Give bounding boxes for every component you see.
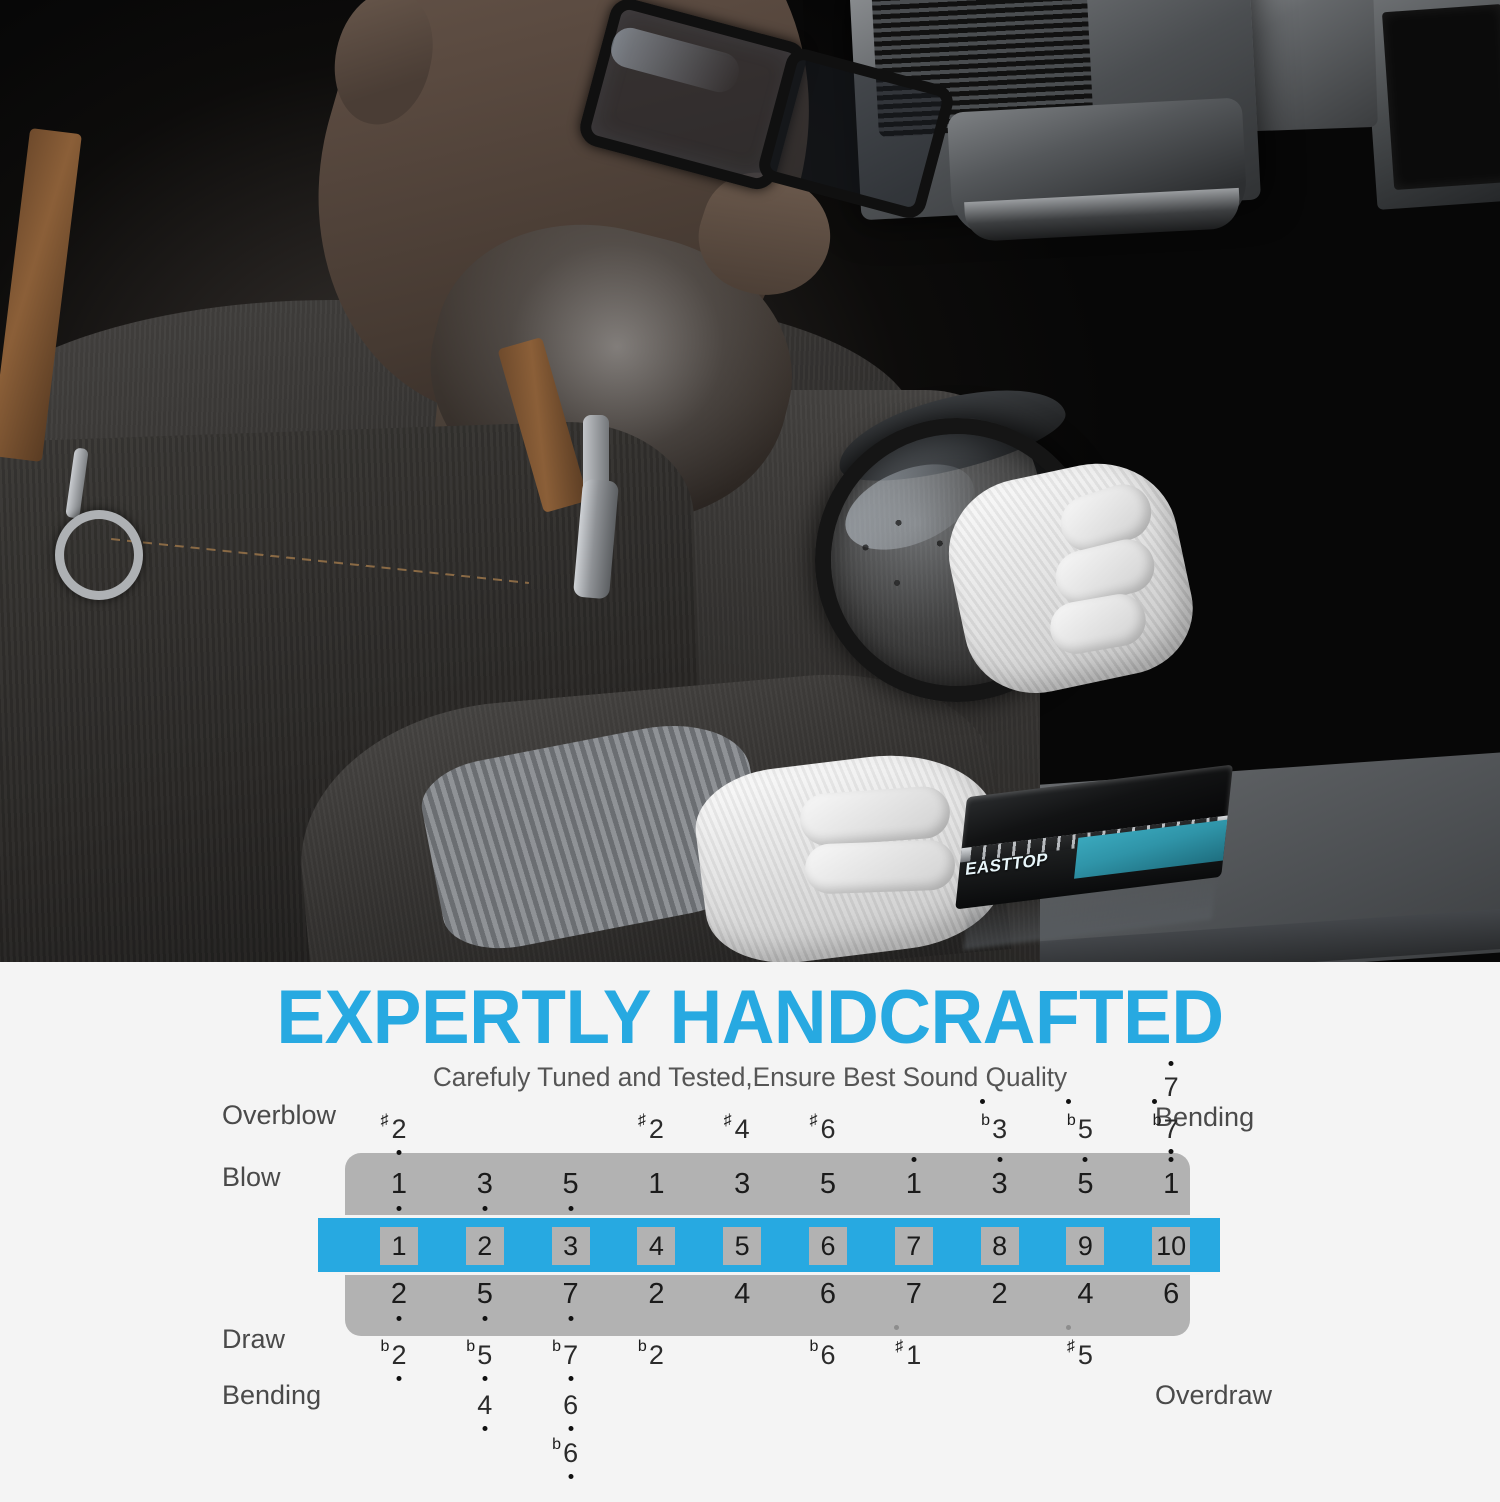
octave-dot [482,1426,487,1431]
cell-blow-hole-8: 3 [973,1170,1027,1199]
cell-blow-hole-3: 5 [544,1170,598,1199]
cell-blow-hole-5: 3 [715,1170,769,1199]
cell-draw-hole-8: 2 [973,1280,1027,1309]
cell-overblow-hole-9: 5b [1058,1116,1112,1143]
octave-dot [1169,1061,1174,1066]
cell-overblow-hole-5: 4♯ [715,1116,769,1143]
cell-bending-top-extra-hole-10: 7 [1144,1074,1198,1101]
note-value: 3 [992,1170,1008,1199]
octave-dot [997,1157,1002,1162]
cell-draw-hole-5: 4 [715,1280,769,1309]
octave-dot [568,1376,573,1381]
sharp-icon: ♯ [638,1113,646,1129]
hole-number-7[interactable]: 7 [895,1227,933,1265]
cell-overblow-hole-6: 6♯ [801,1116,855,1143]
note-value: 2♯ [391,1116,406,1143]
note-value: 2 [391,1280,407,1309]
octave-dot [568,1474,573,1479]
info-panel: EXPERTLY HANDCRAFTED Carefuly Tuned and … [0,962,1500,1500]
flat-icon: b [809,1339,818,1355]
hole-number-3[interactable]: 3 [552,1227,590,1265]
hole-number-2[interactable]: 2 [466,1227,504,1265]
note-value: 4♯ [735,1116,750,1143]
note-value: 2♯ [649,1116,664,1143]
cell-blow-hole-1: 1 [372,1170,426,1199]
note-value: 4 [1077,1280,1093,1309]
note-value: 5♯ [1078,1342,1093,1369]
cell-bending-1-hole-9: 5♯ [1058,1342,1112,1369]
note-value: 6 [1163,1280,1179,1309]
note-value: 4 [477,1392,492,1419]
note-value: 5 [563,1170,579,1199]
octave-dot [1066,1099,1071,1104]
note-value: 3b [992,1116,1007,1143]
page-subtitle: Carefuly Tuned and Tested,Ensure Best So… [23,1062,1478,1093]
note-value: 5 [477,1280,493,1309]
cell-draw-hole-6: 6 [801,1280,855,1309]
cell-overblow-hole-8: 3b [973,1116,1027,1143]
cell-bending-1-hole-1: 2b [372,1342,426,1369]
finger-5 [804,839,956,894]
cell-draw-hole-3: 7 [544,1280,598,1309]
cell-draw-hole-9: 4 [1058,1280,1112,1309]
note-value: 7b [563,1342,578,1369]
sharp-icon: ♯ [809,1113,817,1129]
octave-dot [482,1316,487,1321]
note-value: 1 [906,1170,922,1199]
cell-draw-hole-10: 6 [1144,1280,1198,1309]
cell-draw-hole-4: 2 [629,1280,683,1309]
cell-bending-1-hole-4: 2b [629,1342,683,1369]
octave-dot [482,1206,487,1211]
hole-number-6[interactable]: 6 [809,1227,847,1265]
cell-draw-hole-1: 2 [372,1280,426,1309]
cell-bending-1-hole-2: 5b [458,1342,512,1369]
octave-dot [397,1150,402,1155]
note-value: 4 [734,1280,750,1309]
page-title: EXPERTLY HANDCRAFTED [30,974,1470,1061]
note-value: 7b [1164,1116,1179,1143]
label-bending-left: Bending [222,1380,321,1411]
octave-dot [482,1376,487,1381]
apron-ring-left [55,510,143,600]
note-value: 2 [992,1280,1008,1309]
note-value: 5b [477,1342,492,1369]
cell-blow-hole-2: 3 [458,1170,512,1199]
cell-bending-3-hole-3: 6b [544,1440,598,1467]
cell-blow-hole-10: 1 [1144,1170,1198,1199]
octave-dot [396,1206,401,1211]
octave-dot [396,1316,401,1321]
octave-dot [1083,1157,1088,1162]
flat-icon: b [981,1113,990,1129]
label-overblow: Overblow [222,1100,336,1131]
note-value: 2b [649,1342,664,1369]
octave-dot [980,1099,985,1104]
harmonica-note-chart: Overblow Blow Draw Bending Bending Overd… [0,1092,1500,1502]
sharp-icon: ♯ [724,1113,732,1129]
octave-dot [568,1426,573,1431]
note-value: 6b [563,1440,578,1467]
octave-dot [911,1157,916,1162]
octave-dot [568,1316,573,1321]
note-value: 2 [648,1280,664,1309]
hole-number-5[interactable]: 5 [723,1227,761,1265]
hole-number-8[interactable]: 8 [981,1227,1019,1265]
note-value: 5b [1078,1116,1093,1143]
label-overdraw: Overdraw [1155,1380,1272,1411]
hole-number-4[interactable]: 4 [637,1227,675,1265]
note-value: 1♯ [906,1342,921,1369]
camera-panel-screen [1382,4,1500,190]
cell-overblow-hole-4: 2♯ [629,1116,683,1143]
cell-bending-1-hole-7: 1♯ [887,1342,941,1369]
note-value: 7 [563,1280,579,1309]
flat-icon: b [552,1437,561,1453]
sharp-icon: ♯ [895,1339,903,1355]
note-value: 7 [1164,1074,1179,1101]
note-value: 5 [1077,1170,1093,1199]
cell-overblow-hole-1: 2♯ [372,1116,426,1143]
hole-number-10[interactable]: 10 [1152,1227,1190,1265]
note-value: 1 [648,1170,664,1199]
note-value: 6 [563,1392,578,1419]
cell-blow-hole-7: 1 [887,1170,941,1199]
sharp-icon: ♯ [1067,1339,1075,1355]
cell-draw-hole-2: 5 [458,1280,512,1309]
sharp-icon: ♯ [380,1113,388,1129]
label-draw: Draw [222,1324,285,1355]
note-value: 6♯ [820,1116,835,1143]
flat-icon: b [552,1339,561,1355]
product-infographic: EASTTOP EXPERTLY HANDCRAFTED Carefuly Tu… [0,0,1500,1500]
flat-icon: b [1067,1113,1076,1129]
cell-bending-2-hole-3: 6 [544,1392,598,1419]
octave-dot [397,1376,402,1381]
octave-dot [1169,1157,1174,1162]
finger-4 [798,785,951,847]
cell-blow-hole-4: 1 [629,1170,683,1199]
octave-dot [1066,1325,1071,1330]
note-value: 3 [477,1170,493,1199]
cell-blow-hole-9: 5 [1058,1170,1112,1199]
octave-dot [1169,1149,1174,1154]
cell-bending-1-hole-6: 6b [801,1342,855,1369]
note-value: 3 [734,1170,750,1199]
craftsman-photo: EASTTOP [0,0,1500,962]
hole-number-9[interactable]: 9 [1066,1227,1104,1265]
label-blow: Blow [222,1162,281,1193]
flat-icon: b [466,1339,475,1355]
cell-overblow-hole-10: 7b [1144,1116,1198,1143]
cell-bending-2-hole-2: 4 [458,1392,512,1419]
note-value: 6b [820,1342,835,1369]
flat-icon: b [1153,1113,1162,1129]
flat-icon: b [638,1339,647,1355]
note-value: 1 [391,1170,407,1199]
cell-draw-hole-7: 7 [887,1280,941,1309]
flat-icon: b [380,1339,389,1355]
cell-blow-hole-6: 5 [801,1170,855,1199]
note-value: 2b [391,1342,406,1369]
note-value: 6 [820,1280,836,1309]
cell-bending-1-hole-3: 7b [544,1342,598,1369]
note-value: 7 [906,1280,922,1309]
hole-number-1[interactable]: 1 [380,1227,418,1265]
note-value: 5 [820,1170,836,1199]
note-value: 1 [1163,1170,1179,1199]
octave-dot [568,1206,573,1211]
